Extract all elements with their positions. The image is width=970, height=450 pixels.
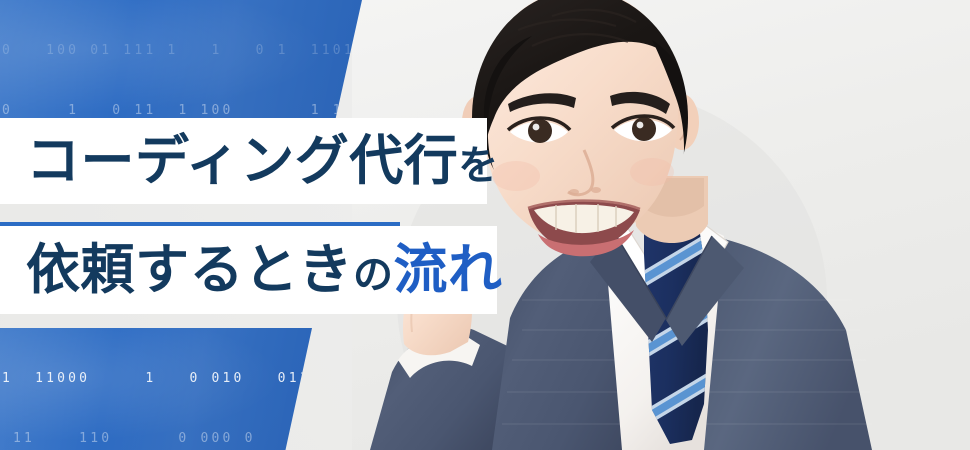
headline-plate-line1: コーディング代行を (0, 118, 487, 204)
binary-row: 0 100 01 111 1 1 0 1 1101 1 1 (2, 41, 362, 61)
headline-line2-accent: 流れ (394, 238, 503, 301)
headline-group: コーディング代行を 依頼するときの流れ (0, 118, 500, 314)
hero-banner: 0 100 01 111 1 1 0 1 1101 1 1 0 1 0 11 1… (0, 0, 970, 450)
headline-plate-line2: 依頼するときの流れ (0, 226, 497, 314)
headline-line2-part1: 依頼するとき (26, 238, 353, 301)
headline-line1-particle: を (458, 143, 499, 189)
headline-line1-main: コーディング代行 (26, 129, 458, 192)
headline-line2: 依頼するときの流れ (0, 243, 503, 297)
headline-line1: コーディング代行を (0, 134, 499, 188)
binary-row: 1 11000 1 0 010 0111 1 (2, 369, 312, 389)
headline-line2-particle: の (353, 252, 394, 298)
binary-row: 11 110 0 000 0 1 (2, 429, 312, 449)
binary-rows-bottom: 1 11000 1 0 010 0111 1 11 110 0 000 0 1 … (0, 328, 312, 450)
binary-rows-top: 0 100 01 111 1 1 0 1 1101 1 1 0 1 0 11 1… (0, 0, 362, 122)
binary-panel-bottom: 1 11000 1 0 010 0111 1 11 110 0 000 0 1 … (0, 328, 312, 450)
binary-panel-top: 0 100 01 111 1 1 0 1 1101 1 1 0 1 0 11 1… (0, 0, 362, 122)
